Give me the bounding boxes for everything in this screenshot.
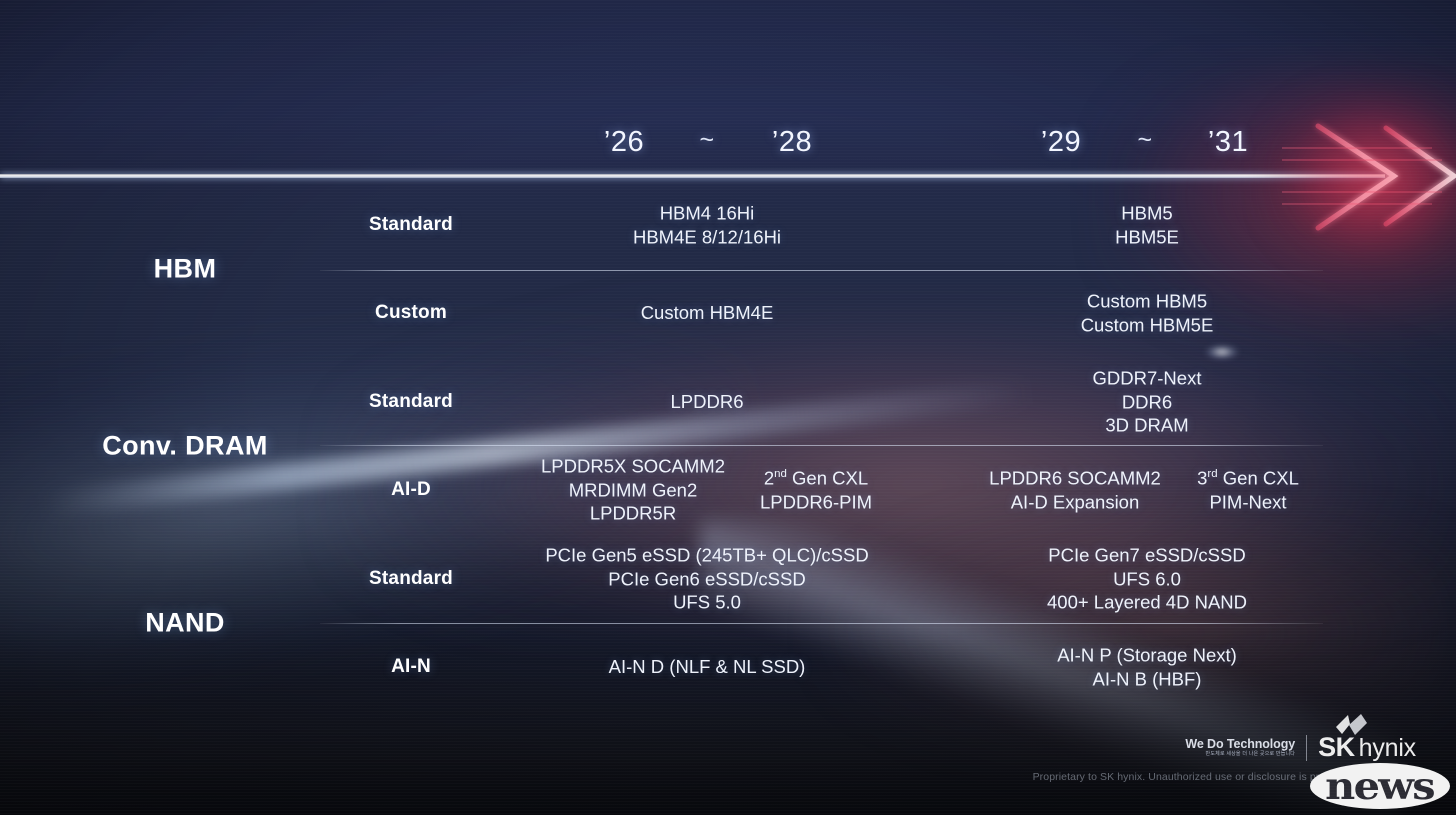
brand-sk: SK <box>1318 732 1355 763</box>
cell-line: LPDDR6-PIM <box>760 490 872 514</box>
background-bottom-fade <box>0 625 1456 815</box>
news-watermark-label: news <box>1326 764 1435 808</box>
cell-line: PIM-Next <box>1197 490 1299 514</box>
butterfly-wing-icon <box>1334 714 1368 736</box>
cell-line: Custom HBM4E <box>641 301 774 325</box>
row-label-custom: Custom <box>375 302 447 324</box>
cell-nand-ain-late: AI-N P (Storage Next)AI-N B (HBF) <box>1057 643 1237 690</box>
cell-line: AI-N P (Storage Next) <box>1057 643 1237 667</box>
timeline-year-31: ’31 <box>1208 126 1248 159</box>
news-watermark: news <box>1310 763 1450 809</box>
cell-line: UFS 6.0 <box>1047 567 1247 591</box>
cell-line: 2nd Gen CXL <box>760 466 872 490</box>
cell-line: AI-N B (HBF) <box>1057 667 1237 691</box>
cell-line: AI-D Expansion <box>989 490 1161 514</box>
timeline-axis-line <box>0 174 1385 178</box>
cell-line: LPDDR5X SOCAMM2 <box>541 454 725 478</box>
timeline-year-labels: ’26~’28’29~’31 <box>0 126 1456 172</box>
row-label-ai-n: AI-N <box>391 656 431 678</box>
cell-dram-standard-late: GDDR7-NextDDR63D DRAM <box>1093 366 1202 437</box>
cell-nand-ain-early: AI-N D (NLF & NL SSD) <box>609 655 806 679</box>
row-label-standard: Standard <box>369 214 453 236</box>
cell-dram-standard-early: LPDDR6 <box>671 390 744 414</box>
sk-hynix-logo-block: We Do Technology 반도체로 세상을 더 나은 곳으로 만듭니다 … <box>1185 732 1416 763</box>
cell-line: GDDR7-Next <box>1093 366 1202 390</box>
cell-line: 3D DRAM <box>1093 414 1202 438</box>
tagline: We Do Technology 반도체로 세상을 더 나은 곳으로 만듭니다 <box>1185 738 1295 757</box>
row-divider <box>320 445 1323 446</box>
cell-hbm-standard-early: HBM4 16HiHBM4E 8/12/16Hi <box>633 201 781 248</box>
cell-line: LPDDR6 SOCAMM2 <box>989 466 1161 490</box>
row-label-standard: Standard <box>369 568 453 590</box>
cell-nand-standard-early: PCIe Gen5 eSSD (245TB+ QLC)/cSSDPCIe Gen… <box>545 543 868 614</box>
timeline-year-28: ’28 <box>772 126 812 159</box>
row-divider <box>320 270 1323 271</box>
cell-line: UFS 5.0 <box>545 591 868 615</box>
category-label-conv-dram: Conv. DRAM <box>102 431 268 462</box>
tagline-main: We Do Technology <box>1185 738 1295 751</box>
cell-nand-standard-late: PCIe Gen7 eSSD/cSSDUFS 6.0400+ Layered 4… <box>1047 543 1247 614</box>
cell-line: Custom HBM5 <box>1081 289 1214 313</box>
cell-line: LPDDR5R <box>541 502 725 526</box>
cell-line: DDR6 <box>1093 390 1202 414</box>
cell-dram-aid-late-b: 3rd Gen CXLPIM-Next <box>1197 466 1299 513</box>
cell-line: AI-N D (NLF & NL SSD) <box>609 655 806 679</box>
right-arrow-icon <box>1282 112 1456 242</box>
cell-line: HBM5E <box>1115 225 1179 249</box>
cell-hbm-standard-late: HBM5HBM5E <box>1115 201 1179 248</box>
cell-dram-aid-early-b: 2nd Gen CXLLPDDR6-PIM <box>760 466 872 513</box>
cell-line: Custom HBM5E <box>1081 313 1214 337</box>
timeline-year-26: ’26 <box>604 126 644 159</box>
tagline-sub: 반도체로 세상을 더 나은 곳으로 만듭니다 <box>1185 752 1295 757</box>
brand-hynix: hynix <box>1359 734 1416 763</box>
roadmap-slide: ’26~’28’29~’31 <box>0 0 1456 815</box>
cell-line: HBM5 <box>1115 201 1179 225</box>
cell-line: LPDDR6 <box>671 390 744 414</box>
timeline-range-tilde: ~ <box>699 126 714 155</box>
cell-line: 3rd Gen CXL <box>1197 466 1299 490</box>
cell-line: HBM4E 8/12/16Hi <box>633 225 781 249</box>
cell-line: 400+ Layered 4D NAND <box>1047 591 1247 615</box>
sk-hynix-wordmark: SK hynix <box>1318 732 1416 763</box>
timeline-year-29: ’29 <box>1041 126 1081 159</box>
cell-line: PCIe Gen5 eSSD (245TB+ QLC)/cSSD <box>545 543 868 567</box>
cell-hbm-custom-late: Custom HBM5Custom HBM5E <box>1081 289 1214 336</box>
cell-dram-aid-late-a: LPDDR6 SOCAMM2AI-D Expansion <box>989 466 1161 513</box>
cell-hbm-custom-early: Custom HBM4E <box>641 301 774 325</box>
row-divider <box>320 623 1323 624</box>
cell-dram-aid-early-a: LPDDR5X SOCAMM2MRDIMM Gen2LPDDR5R <box>541 454 725 525</box>
right-arrow-glow <box>1262 82 1456 272</box>
logo-separator <box>1306 735 1307 761</box>
category-label-hbm: HBM <box>154 254 217 285</box>
cell-line: PCIe Gen7 eSSD/cSSD <box>1047 543 1247 567</box>
timeline-range-tilde: ~ <box>1137 126 1152 155</box>
row-label-standard: Standard <box>369 391 453 413</box>
cell-line: PCIe Gen6 eSSD/cSSD <box>545 567 868 591</box>
cell-line: MRDIMM Gen2 <box>541 478 725 502</box>
category-label-nand: NAND <box>145 608 225 639</box>
cell-line: HBM4 16Hi <box>633 201 781 225</box>
row-label-ai-d: AI-D <box>391 479 431 501</box>
